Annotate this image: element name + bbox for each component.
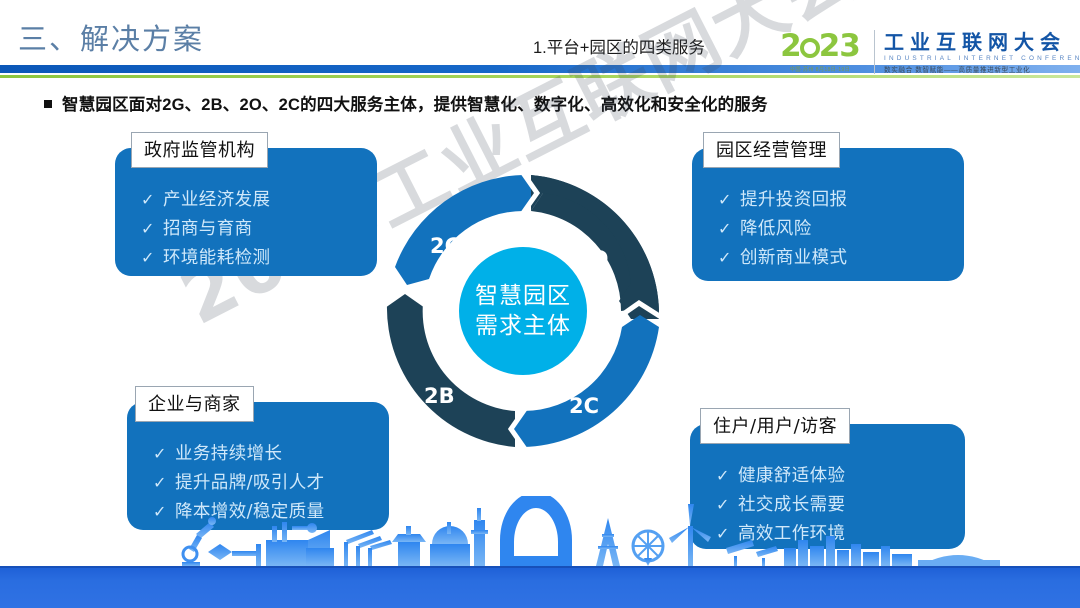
logo-slogan: 数实融合 数智赋能——高质量推进新型工业化 [884, 64, 1080, 74]
list-item: ✓ 健康舒适体验 [716, 462, 845, 487]
skyline-illustration [0, 496, 1080, 568]
check-icon: ✓ [141, 190, 163, 210]
conference-logo: 223 中国·苏州 8月18日-19日 工业互联网大会 INDUSTRIAL I… [772, 30, 1080, 82]
card-list-park-operations: ✓ 提升投资回报 ✓ 降低风险 ✓ 创新商业模式 [718, 186, 847, 273]
logo-year: 223 [772, 30, 868, 62]
slide-canvas: 三、解决方案 1.平台+园区的四类服务 223 中国·苏州 8月18日-19日 … [0, 0, 1080, 608]
list-item: ✓ 招商与育商 [141, 215, 270, 240]
logo-year-prefix: 2 [780, 28, 801, 64]
card-title-enterprises: 企业与商家 [135, 386, 254, 422]
donut-center-line1: 智慧园区 [475, 281, 571, 311]
logo-year-suffix: 23 [819, 28, 860, 64]
list-item-label: 降低风险 [740, 215, 812, 240]
logo-year-block: 223 中国·苏州 8月18日-19日 [772, 30, 868, 73]
donut-center: 智慧园区 需求主体 [455, 243, 591, 379]
headline: 智慧园区面对2G、2B、2O、2C的四大服务主体，提供智慧化、数字化、高效化和安… [44, 91, 768, 115]
card-title-government: 政府监管机构 [131, 132, 268, 168]
donut-center-line2: 需求主体 [475, 311, 571, 341]
list-item: ✓ 产业经济发展 [141, 186, 270, 211]
list-item: ✓ 环境能耗检测 [141, 244, 270, 269]
page-title: 三、解决方案 [18, 16, 204, 58]
check-icon: ✓ [718, 219, 740, 239]
headline-text: 智慧园区面对2G、2B、2O、2C的四大服务主体，提供智慧化、数字化、高效化和安… [62, 96, 768, 114]
logo-name-cn: 工业互联网大会 [884, 31, 1080, 53]
check-icon: ✓ [153, 444, 175, 464]
list-item-label: 环境能耗检测 [163, 244, 270, 269]
list-item: ✓ 降低风险 [718, 215, 847, 240]
check-icon: ✓ [716, 466, 738, 486]
donut-label-2b: 2B [424, 384, 455, 408]
check-icon: ✓ [718, 248, 740, 268]
logo-name-en: INDUSTRIAL INTERNET CONFERENCE [884, 55, 1080, 62]
list-item-label: 招商与育商 [163, 215, 253, 240]
bullet-square-icon [44, 100, 52, 108]
donut-diagram: 2G 2O 2B 2C 智慧园区 需求主体 [383, 171, 663, 451]
check-icon: ✓ [141, 219, 163, 239]
list-item-label: 提升品牌/吸引人才 [175, 469, 325, 494]
logo-date: 中国·苏州 8月18日-19日 [772, 66, 868, 73]
card-government[interactable]: 政府监管机构 ✓ 产业经济发展 ✓ 招商与育商 ✓ 环境能耗检测 [115, 148, 377, 276]
donut-label-2c: 2C [569, 394, 599, 418]
footer-hairline [0, 566, 1080, 568]
donut-label-2o: 2O [576, 247, 608, 271]
donut-label-2g: 2G [430, 234, 462, 258]
logo-divider [874, 30, 875, 74]
list-item-label: 提升投资回报 [740, 186, 847, 211]
check-icon: ✓ [718, 190, 740, 210]
list-item: ✓ 提升投资回报 [718, 186, 847, 211]
list-item: ✓ 创新商业模式 [718, 244, 847, 269]
check-icon: ✓ [141, 248, 163, 268]
check-icon: ✓ [153, 473, 175, 493]
logo-text-block: 工业互联网大会 INDUSTRIAL INTERNET CONFERENCE 数… [884, 30, 1080, 74]
footer-band [0, 566, 1080, 608]
card-list-government: ✓ 产业经济发展 ✓ 招商与育商 ✓ 环境能耗检测 [141, 186, 270, 273]
list-item: ✓ 提升品牌/吸引人才 [153, 469, 325, 494]
list-item-label: 创新商业模式 [740, 244, 847, 269]
logo-ring-icon [800, 38, 820, 58]
card-title-park-operations: 园区经营管理 [703, 132, 840, 168]
list-item-label: 产业经济发展 [163, 186, 270, 211]
card-park-operations[interactable]: 园区经营管理 ✓ 提升投资回报 ✓ 降低风险 ✓ 创新商业模式 [692, 148, 964, 281]
page-subtitle: 1.平台+园区的四类服务 [533, 34, 705, 58]
list-item: ✓ 业务持续增长 [153, 440, 325, 465]
card-title-residents: 住户/用户/访客 [700, 408, 850, 444]
list-item-label: 业务持续增长 [175, 440, 282, 465]
list-item-label: 健康舒适体验 [738, 462, 845, 487]
